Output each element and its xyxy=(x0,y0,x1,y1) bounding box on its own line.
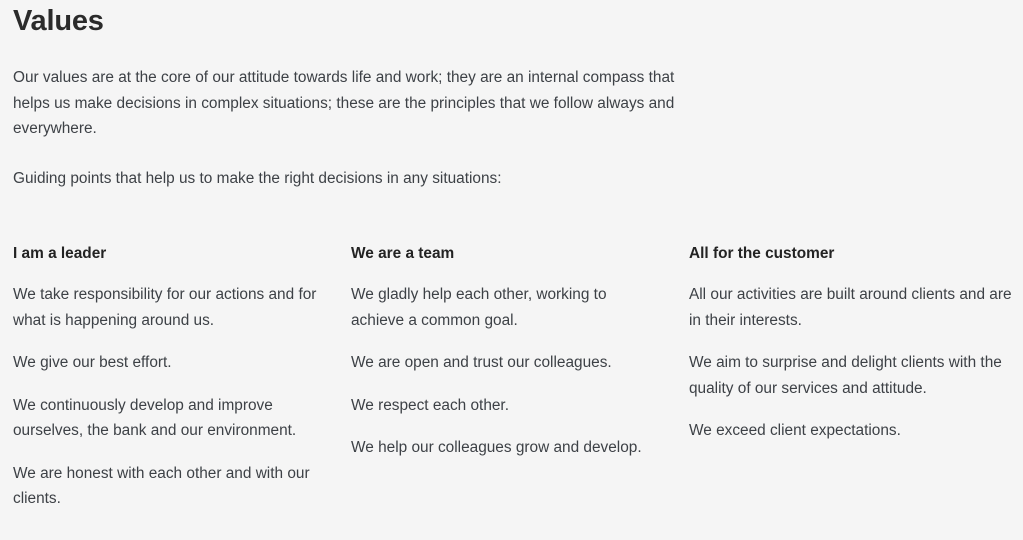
value-statement: We gladly help each other, working to ac… xyxy=(351,282,661,333)
values-page: Values Our values are at the core of our… xyxy=(0,0,1023,540)
values-columns: I am a leader We take responsibility for… xyxy=(13,243,1010,512)
intro-section: Our values are at the core of our attitu… xyxy=(13,65,681,191)
value-statement: We aim to surprise and delight clients w… xyxy=(689,350,1015,401)
value-statement: All our activities are built around clie… xyxy=(689,282,1015,333)
column-heading-leader: I am a leader xyxy=(13,243,323,264)
values-column-customer: All for the customer All our activities … xyxy=(689,243,1023,512)
value-statement: We help our colleagues grow and develop. xyxy=(351,435,661,461)
intro-paragraph-2: Guiding points that help us to make the … xyxy=(13,166,681,192)
intro-paragraph-1: Our values are at the core of our attitu… xyxy=(13,65,681,142)
value-statement: We respect each other. xyxy=(351,393,661,419)
values-column-leader: I am a leader We take responsibility for… xyxy=(13,243,351,512)
value-statement: We give our best effort. xyxy=(13,350,323,376)
column-heading-customer: All for the customer xyxy=(689,243,1015,264)
page-title: Values xyxy=(13,0,1010,39)
values-column-team: We are a team We gladly help each other,… xyxy=(351,243,689,512)
value-statement: We are honest with each other and with o… xyxy=(13,461,323,512)
value-statement: We are open and trust our colleagues. xyxy=(351,350,661,376)
column-heading-team: We are a team xyxy=(351,243,661,264)
value-statement: We continuously develop and improve ours… xyxy=(13,393,323,444)
value-statement: We take responsibility for our actions a… xyxy=(13,282,323,333)
value-statement: We exceed client expectations. xyxy=(689,418,1015,444)
